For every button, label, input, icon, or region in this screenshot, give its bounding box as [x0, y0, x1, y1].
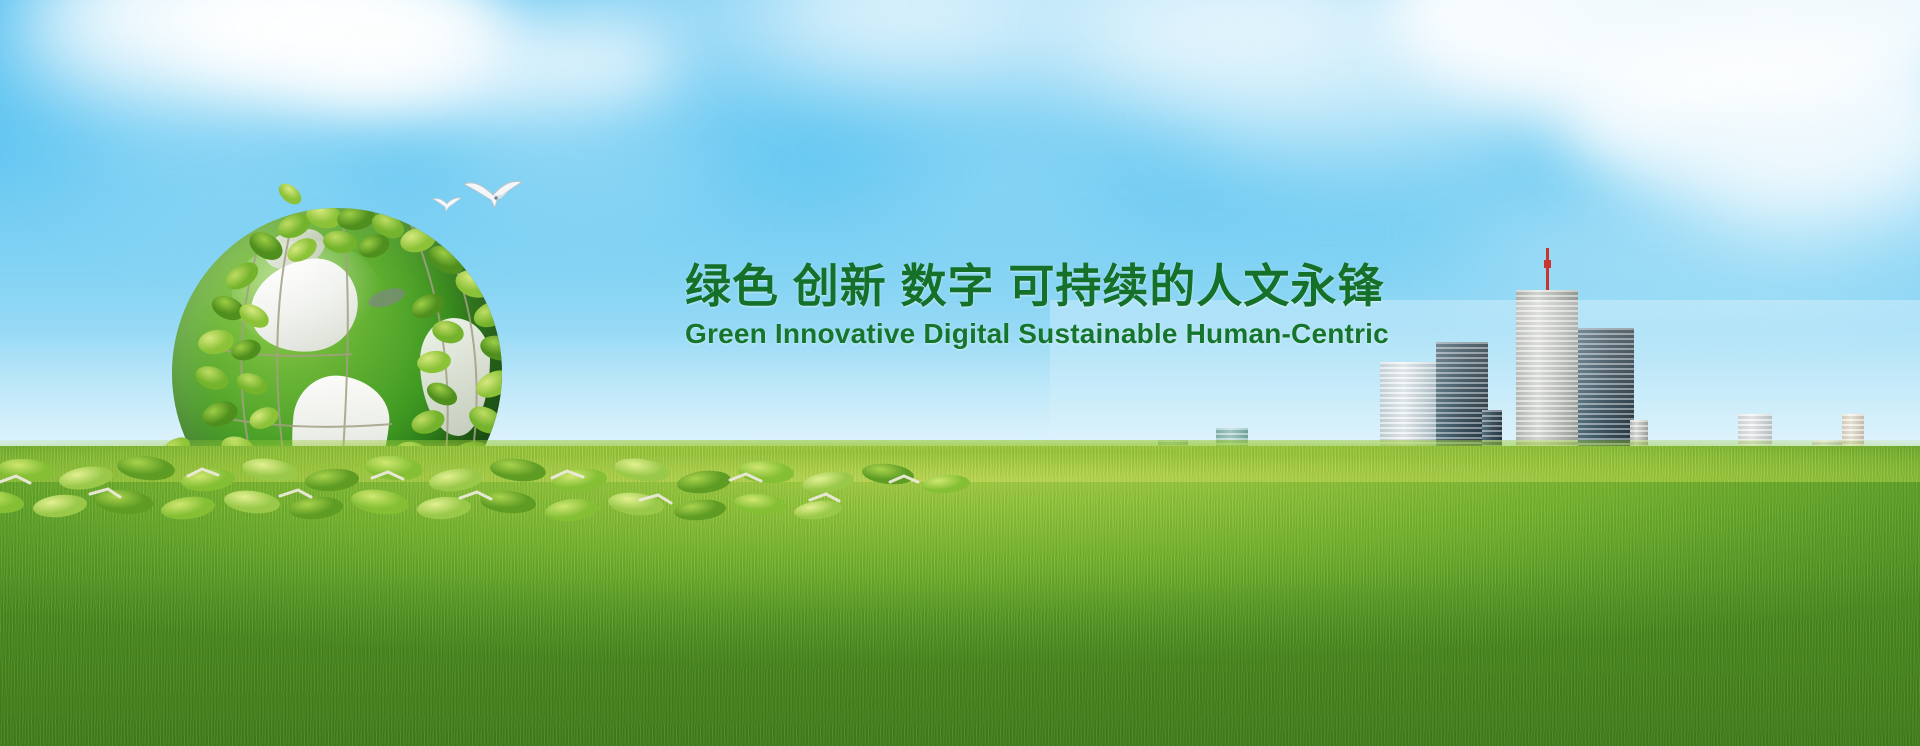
- grass-shadow: [0, 576, 1920, 746]
- cloud: [1180, 60, 1540, 170]
- leaf-mulch-ground: [0, 446, 1060, 534]
- subheadline-english: Green Innovative Digital Sustainable Hum…: [685, 318, 1595, 350]
- headline-block: 绿色 创新 数字 可持续的人文永锋 Green Innovative Digit…: [685, 262, 1595, 350]
- cloud: [880, 140, 1140, 210]
- green-grass-field: [0, 446, 1920, 746]
- eco-banner: 绿色 创新 数字 可持续的人文永锋 Green Innovative Digit…: [0, 0, 1920, 746]
- headline-chinese: 绿色 创新 数字 可持续的人文永锋: [685, 262, 1595, 312]
